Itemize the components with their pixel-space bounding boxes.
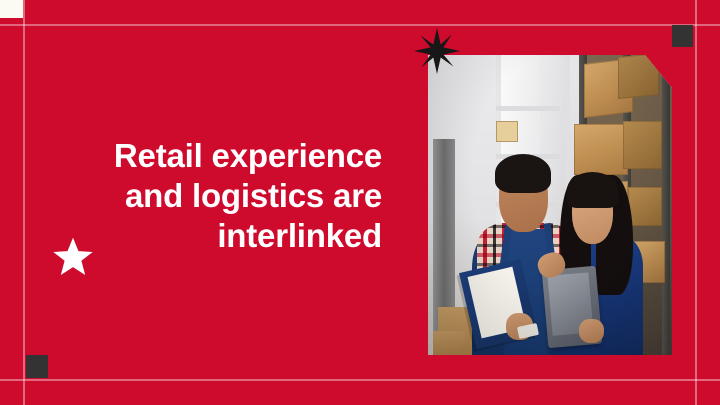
frame-line-right [695,0,697,405]
frame-line-top [0,24,720,26]
frame-line-left [23,0,25,405]
page-title: Retail experience and logistics are inte… [40,136,382,256]
slide-canvas: Retail experience and logistics are inte… [0,0,720,405]
frame-line-bottom [0,379,720,381]
warehouse-team-photo [428,55,672,355]
white-corner-square [0,0,23,18]
eight-point-sparkle-icon [414,28,460,74]
dark-square-bottom-left [26,355,48,378]
dark-square-top-right [672,25,693,47]
